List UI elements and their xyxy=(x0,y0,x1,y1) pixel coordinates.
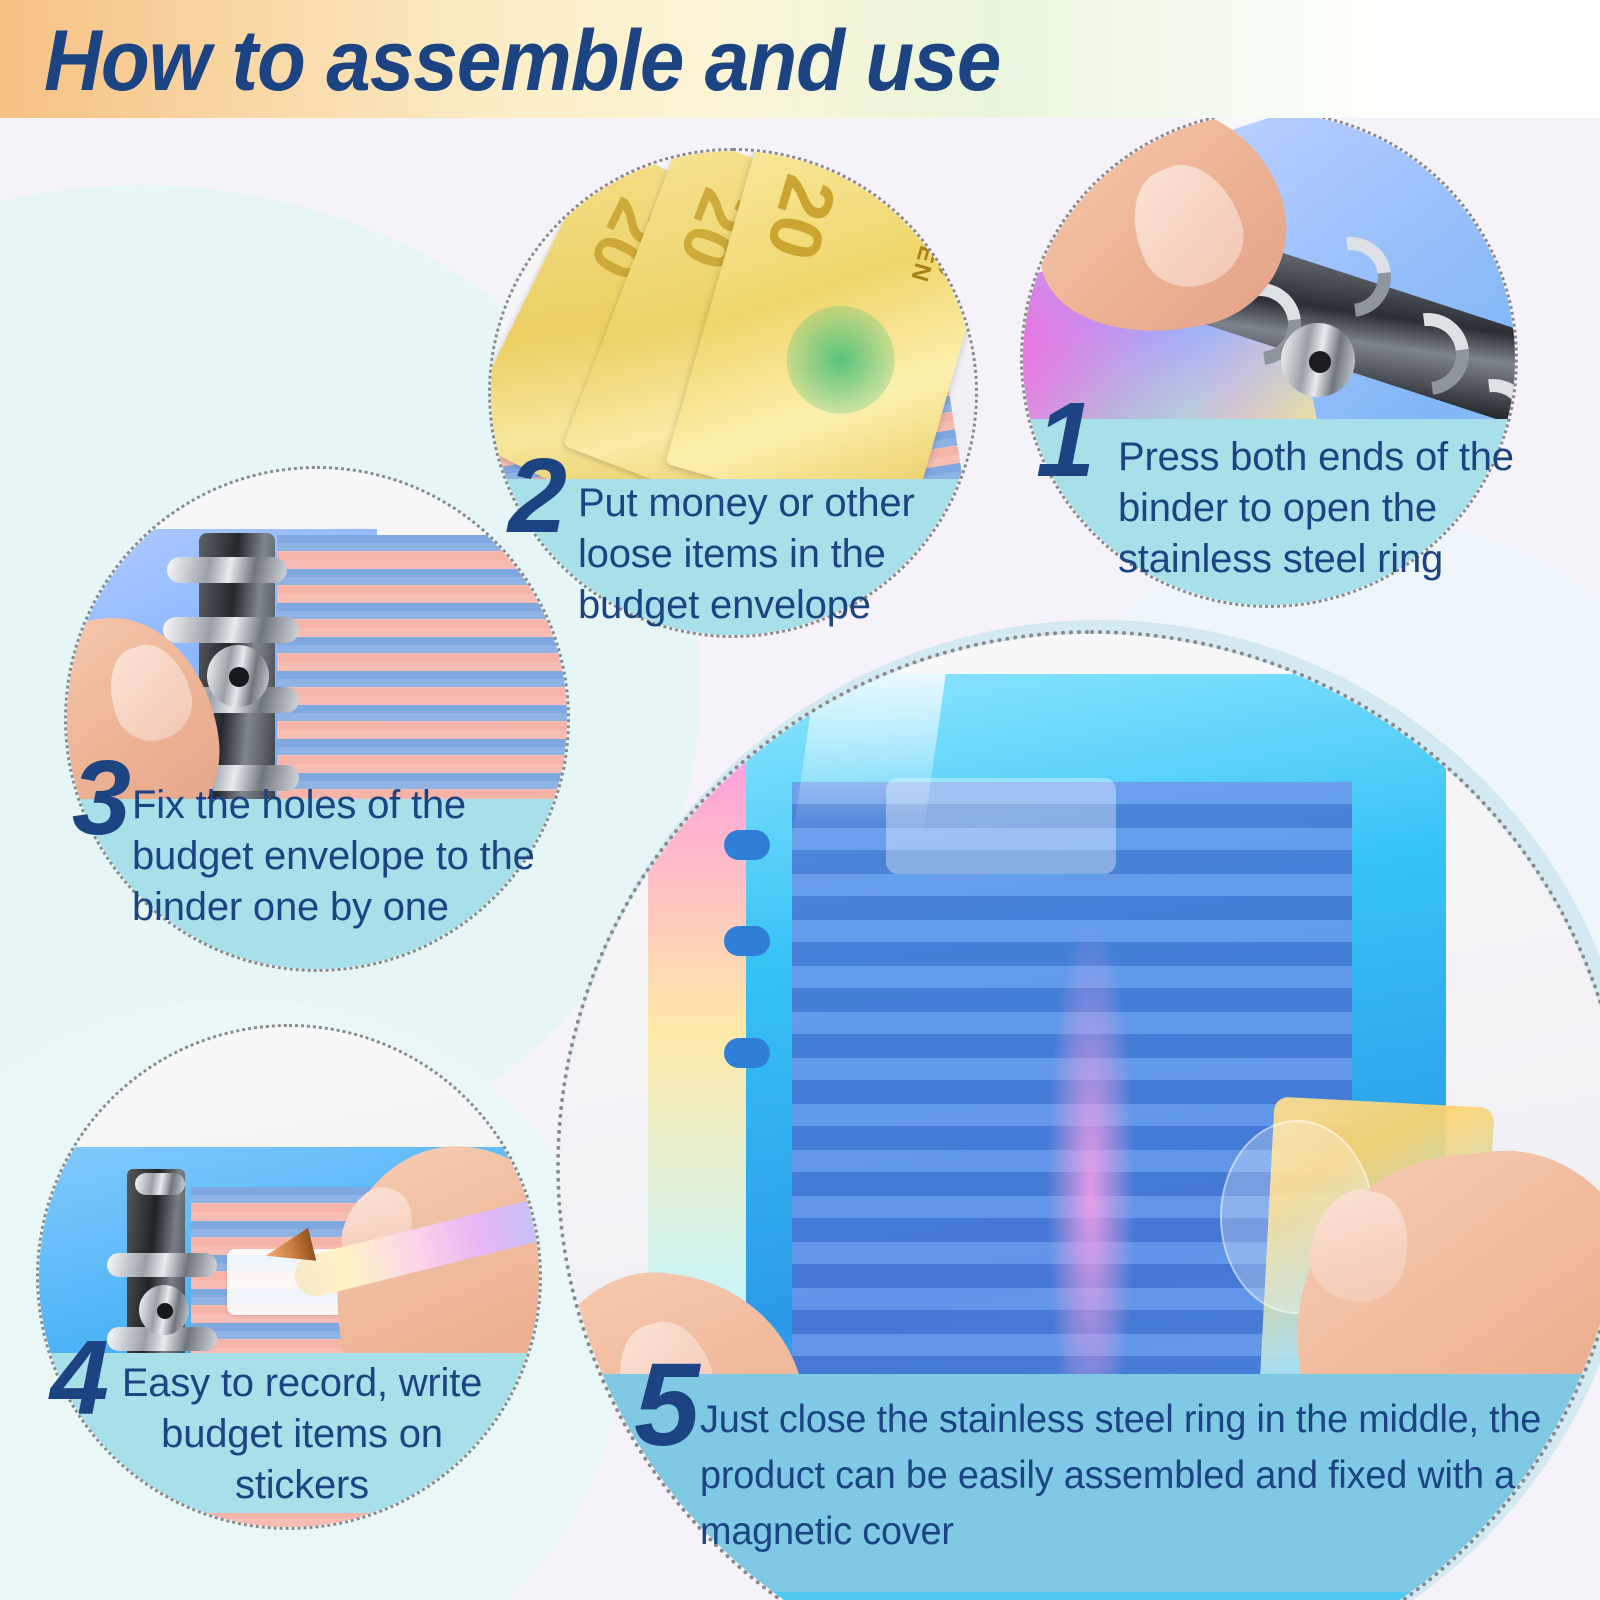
clasp-hole xyxy=(229,667,249,687)
page-title: How to assemble and use xyxy=(44,8,1000,114)
ring-hook-top xyxy=(135,1173,185,1195)
ring-hole-1 xyxy=(724,830,770,860)
step-4-caption: Easy to record, write budget items on st… xyxy=(112,1358,492,1511)
step-4-number: 4 xyxy=(50,1334,109,1423)
ring-hook-1 xyxy=(107,1253,217,1277)
step-1-number: 1 xyxy=(1036,396,1095,485)
ring-hole-2 xyxy=(724,926,770,956)
step-5-caption: Just close the stainless steel ring in t… xyxy=(700,1392,1554,1560)
ring-hook-top xyxy=(167,557,287,583)
ring-hole-3 xyxy=(724,1038,770,1068)
step-3-caption: Fix the holes of the budget envelope to … xyxy=(132,780,552,933)
ring-hook-1 xyxy=(163,617,299,643)
step-3-number: 3 xyxy=(72,754,131,843)
clasp-hole xyxy=(1309,351,1331,373)
glare xyxy=(793,674,948,834)
infographic-canvas: 1 Press both ends of the binder to open … xyxy=(0,0,1600,1600)
step-2-caption: Put money or other loose items in the bu… xyxy=(578,478,998,631)
header-bar: How to assemble and use xyxy=(0,0,1600,118)
step-1-caption: Press both ends of the binder to open th… xyxy=(1118,432,1538,585)
clasp-hole xyxy=(157,1303,173,1319)
step-5-number: 5 xyxy=(634,1356,700,1455)
step-2-number: 2 xyxy=(508,452,567,541)
